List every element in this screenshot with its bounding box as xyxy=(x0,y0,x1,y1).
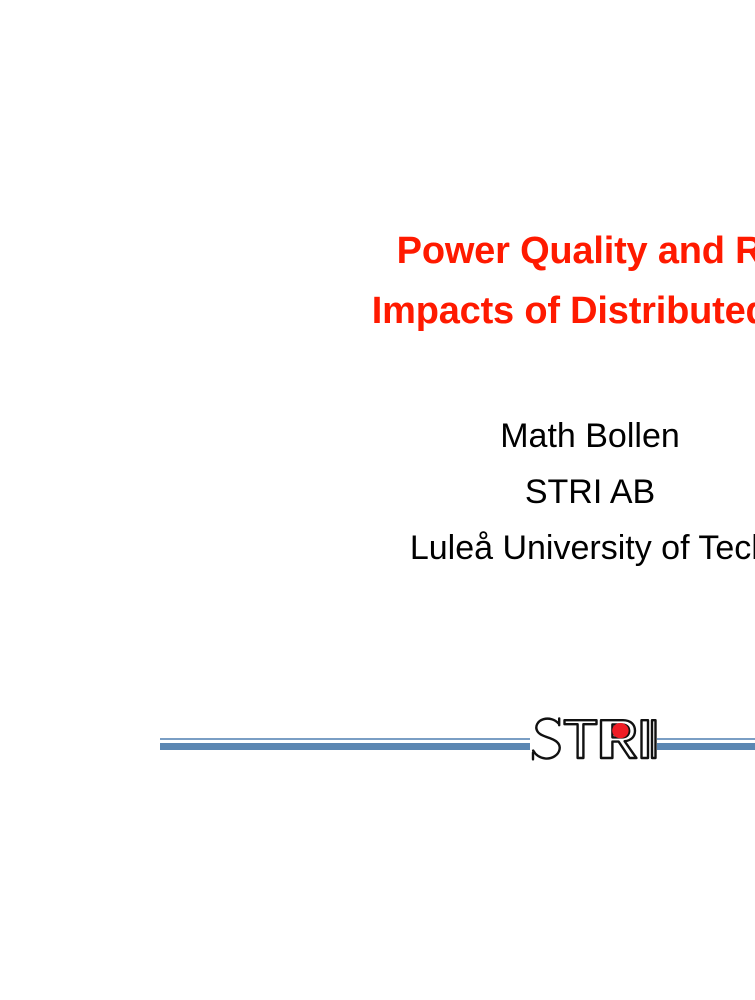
stri-logo-icon: STRI xyxy=(528,710,660,772)
slide-canvas: Power Quality and Re Impacts of Distribu… xyxy=(0,0,755,1000)
slide-title: Power Quality and Re Impacts of Distribu… xyxy=(0,221,755,341)
rule-thin-line xyxy=(160,738,530,740)
affiliation-university: Luleå University of Tech xyxy=(0,520,755,576)
rule-thin-line xyxy=(657,738,755,740)
author-name: Math Bollen xyxy=(0,408,755,464)
slide-stage: Power Quality and Re Impacts of Distribu… xyxy=(0,0,755,1000)
rule-thick-line xyxy=(160,743,530,750)
footer-rule-left xyxy=(160,714,530,774)
footer-rule-right xyxy=(657,714,755,774)
rule-thick-line xyxy=(657,743,755,750)
slide-title-line-1: Power Quality and Re xyxy=(0,221,755,281)
slide-title-line-2: Impacts of Distributed G xyxy=(0,281,755,341)
affiliation-company: STRI AB xyxy=(0,464,755,520)
slide-byline: Math Bollen STRI AB Luleå University of … xyxy=(0,408,755,576)
rule-stack-left xyxy=(160,738,530,750)
rule-stack-right xyxy=(657,738,755,750)
